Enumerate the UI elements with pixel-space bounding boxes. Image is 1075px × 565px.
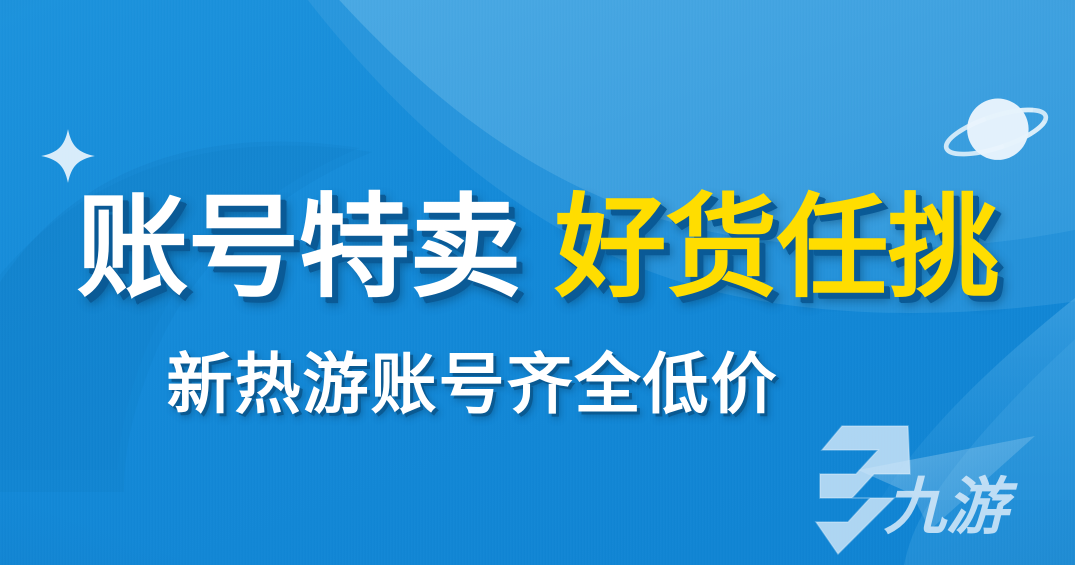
four-point-star-icon bbox=[40, 128, 96, 184]
headline-primary: 账号特卖 bbox=[77, 192, 521, 304]
headline-secondary: 好货任挑 bbox=[555, 192, 999, 304]
headline: 账号特卖 好货任挑 bbox=[0, 192, 1075, 304]
promo-banner: 账号特卖 好货任挑 新热游账号齐全低价 九游 bbox=[0, 0, 1075, 565]
subtitle: 新热游账号齐全低价 bbox=[0, 352, 1075, 418]
brand-wordmark: 九游 bbox=[884, 470, 1018, 543]
saturn-planet-icon bbox=[940, 78, 1052, 186]
subtitle-text: 新热游账号齐全低价 bbox=[167, 346, 779, 423]
brand-logo: 九游 bbox=[812, 424, 1064, 556]
